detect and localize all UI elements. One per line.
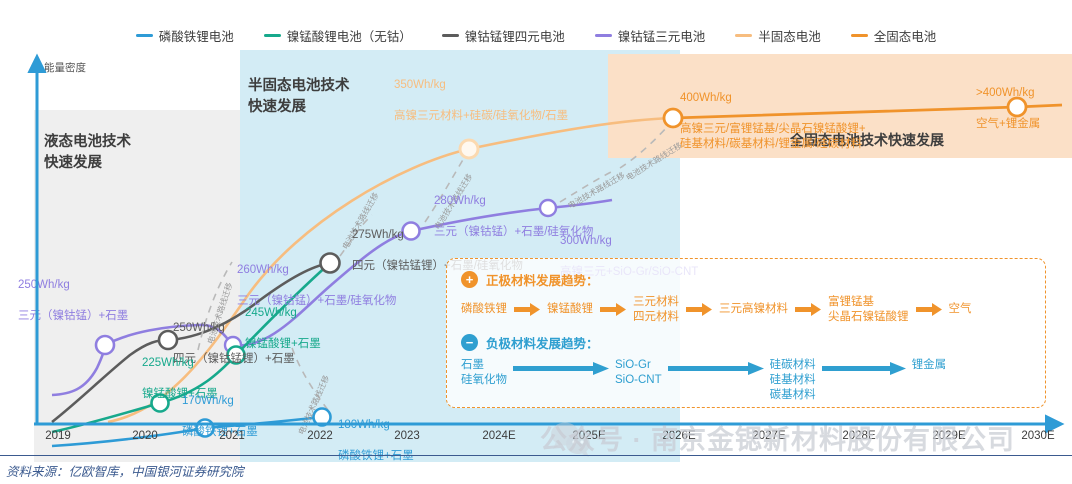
- arrow-right-icon: [916, 303, 942, 316]
- legend-label-quaternary: 镍钴锰锂四元电池: [465, 26, 565, 45]
- annotation-desc: 磷酸铁锂+石墨: [338, 449, 414, 465]
- legend-item-all-solid[interactable]: 全固态电池: [851, 26, 937, 45]
- arrow-right-icon: [600, 303, 626, 316]
- anode-step-1: SiO-Gr SiO-CNT: [615, 358, 662, 388]
- chart-legend: 磷酸铁锂电池 镍锰酸锂电池（无钴） 镍钴锰锂四元电池 镍钴锰三元电池 半固态电池…: [0, 24, 1072, 46]
- annotation-value: 300Wh/kg: [560, 234, 698, 250]
- legend-label-lnmo: 镍锰酸锂电池（无钴）: [287, 26, 412, 45]
- anode-header: − 负极材料发展趋势：: [461, 333, 1045, 352]
- cathode-step-2: 三元材料 四元材料: [633, 295, 679, 325]
- annotation-400-all-solid: 400Wh/kg 高镍三元/富锂锰基/尖晶石镍锰酸锂+ 硅基材料/碳基材料/锂金…: [680, 75, 866, 168]
- anode-steps: 石墨 硅氧化物 SiO-Gr SiO-CNT 硅碳材料 硅基材料 碳基材料 锂金…: [461, 358, 1045, 403]
- x-tick-2019: 2019: [45, 430, 71, 442]
- legend-label-lfp: 磷酸铁锂电池: [159, 26, 234, 45]
- legend-item-ncm[interactable]: 镍钴锰三元电池: [595, 26, 706, 45]
- x-tick-2022: 2022: [307, 430, 333, 442]
- legend-swatch-semi-solid: [735, 34, 752, 37]
- annotation-250-ncm: 250Wh/kg 三元（镍钴锰）+石墨: [18, 262, 128, 340]
- anode-title: 负极材料发展趋势：: [486, 333, 599, 352]
- minus-icon: −: [461, 334, 478, 351]
- anode-step-2: 硅碳材料 硅基材料 碳基材料: [770, 358, 816, 403]
- annotation-value: 250Wh/kg: [18, 278, 128, 294]
- arrow-right-icon: [795, 303, 821, 316]
- legend-swatch-quaternary: [442, 34, 459, 37]
- x-tick-2021: 2021: [219, 430, 245, 442]
- watermark-text: 公众号 · 南京金锶新材料股份有限公司: [540, 418, 1015, 457]
- annotation-desc: 空气+锂金属: [976, 117, 1040, 133]
- annotation-value: >400Wh/kg: [976, 86, 1040, 102]
- legend-label-semi-solid: 半固态电池: [758, 26, 821, 45]
- legend-label-all-solid: 全固态电池: [874, 26, 937, 45]
- annotation-over-400-all-solid: >400Wh/kg 空气+锂金属: [976, 70, 1040, 148]
- plus-icon: +: [461, 271, 478, 288]
- annotation-170-lfp: 170Wh/kg 磷酸铁锂+石墨: [182, 378, 258, 456]
- annotation-desc: 镍锰酸锂+石墨: [245, 337, 321, 353]
- cathode-title: 正极材料发展趋势：: [486, 270, 599, 289]
- cathode-step-5: 空气: [949, 302, 972, 317]
- arrow-right-icon: [514, 303, 540, 316]
- legend-item-semi-solid[interactable]: 半固态电池: [735, 26, 821, 45]
- arrow-right-icon: [822, 362, 906, 375]
- annotation-value: 280Wh/kg: [434, 194, 593, 210]
- cathode-step-1: 镍锰酸锂: [547, 302, 593, 317]
- legend-item-lfp[interactable]: 磷酸铁锂电池: [136, 26, 234, 45]
- annotation-desc: 三元（镍钴锰）+石墨: [18, 309, 128, 325]
- x-tick-2024E: 2024E: [482, 430, 515, 442]
- legend-label-ncm: 镍钴锰三元电池: [618, 26, 706, 45]
- legend-item-quaternary[interactable]: 镍钴锰锂四元电池: [442, 26, 565, 45]
- annotation-value: 170Wh/kg: [182, 394, 258, 410]
- source-text: 资料来源：亿欧智库，中国银河证券研究院: [6, 461, 244, 480]
- chart-root: 磷酸铁锂电池 镍锰酸锂电池（无钴） 镍钴锰锂四元电池 镍钴锰三元电池 半固态电池…: [0, 0, 1072, 484]
- cathode-step-0: 磷酸铁锂: [461, 302, 507, 317]
- annotation-value: 225Wh/kg: [142, 356, 218, 372]
- anode-step-3: 锂金属: [912, 358, 947, 373]
- annotation-value: 350Wh/kg: [394, 78, 568, 94]
- anode-step-0: 石墨 硅氧化物: [461, 358, 507, 388]
- plot-area: 液态电池技术 快速发展 半固态电池技术 快速发展 全固态电池技术快速发展 能量密…: [0, 50, 1072, 425]
- annotation-desc: 高镍三元/富锂锰基/尖晶石镍锰酸锂+ 硅基材料/碳基材料/锂金属/硅碳材料: [680, 122, 866, 153]
- annotation-desc: 高镍三元材料+硅碳/硅氧化物/石墨: [394, 109, 568, 125]
- cathode-header: + 正极材料发展趋势：: [461, 270, 1045, 289]
- legend-swatch-ncm: [595, 34, 612, 37]
- cathode-step-3: 三元高镍材料: [719, 302, 788, 317]
- source-divider: [0, 455, 1072, 456]
- annotation-desc: 三元（镍钴锰）+石墨/硅氧化物: [237, 294, 396, 310]
- material-trend-box: + 正极材料发展趋势： 磷酸铁锂 镍锰酸锂 三元材料 四元材料 三元高镍材料 富…: [446, 258, 1046, 408]
- arrow-right-icon: [668, 362, 764, 375]
- legend-item-lnmo[interactable]: 镍锰酸锂电池（无钴）: [264, 26, 412, 45]
- x-tick-2030E: 2030E: [1021, 430, 1054, 442]
- cathode-step-4: 富锂锰基 尖晶石镍锰酸锂: [828, 295, 909, 325]
- arrow-right-icon: [513, 362, 609, 375]
- arrow-right-icon: [686, 303, 712, 316]
- legend-swatch-lfp: [136, 34, 153, 37]
- legend-swatch-all-solid: [851, 34, 868, 37]
- annotation-value: 400Wh/kg: [680, 91, 866, 107]
- cathode-steps: 磷酸铁锂 镍锰酸锂 三元材料 四元材料 三元高镍材料 富锂锰基 尖晶石镍锰酸锂 …: [461, 295, 1045, 325]
- legend-swatch-lnmo: [264, 34, 281, 37]
- x-tick-2023: 2023: [394, 430, 420, 442]
- annotation-350-semi-solid: 350Wh/kg 高镍三元材料+硅碳/硅氧化物/石墨: [394, 62, 568, 140]
- x-tick-2020: 2020: [132, 430, 158, 442]
